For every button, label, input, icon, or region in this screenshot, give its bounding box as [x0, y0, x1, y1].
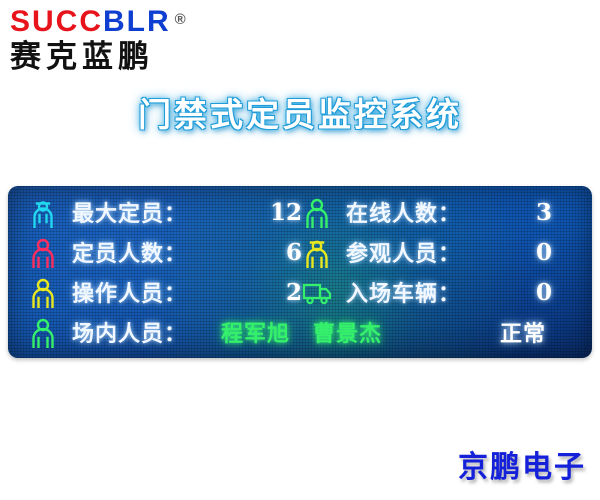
person-icon: [28, 236, 58, 268]
led-value-max-capacity: 12: [270, 199, 302, 226]
person-icon: [28, 276, 58, 308]
person-icon: [302, 196, 332, 228]
brand-wordmark: SUCCBLR®: [10, 6, 250, 38]
led-value-onsite-names: 程军旭 曹景杰: [221, 316, 382, 348]
led-value-vehicles: 0: [536, 279, 552, 306]
led-value-online-count: 3: [536, 199, 552, 226]
led-value-visitors: 0: [536, 239, 552, 266]
led-label-visitors: 参观人员：: [346, 236, 461, 268]
led-row-onsite-personnel: 场内人员： 程军旭 曹景杰 正常: [28, 312, 552, 352]
led-row-assigned-staff: 定员人数： 6: [28, 232, 302, 272]
led-label-online-count: 在线人数：: [346, 196, 461, 228]
truck-icon: [302, 276, 332, 308]
led-value-operators: 2: [286, 279, 302, 306]
brand-wordmark-primary: SUCC: [10, 5, 103, 38]
brand-wordmark-cn: 赛克蓝鹏: [10, 39, 250, 75]
led-label-onsite-personnel: 场内人员：: [72, 316, 187, 348]
status-badge: 正常: [500, 316, 546, 348]
led-label-vehicles: 入场车辆：: [346, 276, 461, 308]
led-label-assigned-staff: 定员人数：: [72, 236, 187, 268]
led-row-vehicles: 入场车辆： 0: [302, 272, 552, 312]
person-icon: [28, 316, 58, 348]
person-cap-icon: [28, 196, 58, 228]
led-row-visitors: 参观人员： 0: [302, 232, 552, 272]
led-row-operators: 操作人员： 2: [28, 272, 302, 312]
footer-brand: 京鹏电子: [458, 442, 586, 486]
brand-logo: SUCCBLR® 赛克蓝鹏: [10, 6, 250, 76]
led-row-max-capacity: 最大定员： 12: [28, 192, 302, 232]
led-readout-grid: 最大定员： 12 在线人数： 3: [8, 186, 592, 358]
led-row-online-count: 在线人数： 3: [302, 192, 552, 232]
person-cap-icon: [302, 236, 332, 268]
registered-trademark-icon: ®: [175, 4, 188, 36]
page-title: 门禁式定员监控系统: [0, 88, 600, 136]
led-display-panel: 最大定员： 12 在线人数： 3: [8, 186, 592, 358]
led-label-max-capacity: 最大定员：: [72, 196, 187, 228]
led-value-assigned-staff: 6: [286, 239, 302, 266]
brand-wordmark-secondary: BLR: [103, 5, 171, 38]
led-label-operators: 操作人员：: [72, 276, 187, 308]
